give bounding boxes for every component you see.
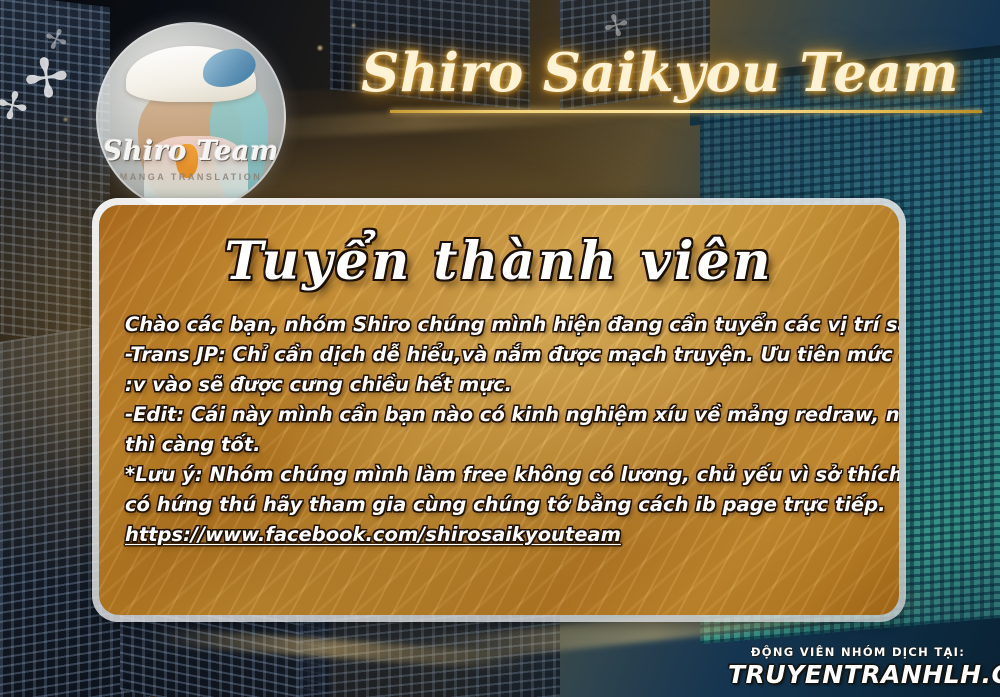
title-underline-rule [390,110,982,113]
body-line-edit-cont: thì càng tốt. [125,430,873,460]
body-line-note: *Lưu ý: Nhóm chúng mình làm free không c… [125,460,873,490]
body-line-edit: -Edit: Cái này mình cần bạn nào có kinh … [125,400,873,430]
team-logo: Shiro Team MANGA TRANSLATION [96,22,286,212]
footer-credit-label: ĐỘNG VIÊN NHÓM DỊCH TẠI: [728,645,988,659]
footer-site-name: TRUYENTRANHLH.COM [728,660,988,689]
logo-wordmark: Shiro Team [98,136,284,167]
page-title: Shiro Saikyou Team [330,42,990,104]
facebook-page-link[interactable]: https://www.facebook.com/shirosaikyoutea… [125,520,873,550]
background-light-dot-2 [352,24,355,27]
body-line-note-cont: có hứng thú hãy tham gia cùng chúng tớ b… [125,490,873,520]
recruitment-heading: Tuyển thành viên [99,231,899,292]
background-light-dot-1 [318,46,322,50]
background-light-dot-3 [64,118,67,121]
body-line-trans-jp-cont: :v vào sẽ được cưng chiều hết mực. [125,370,873,400]
logo-tagline: MANGA TRANSLATION [98,172,284,182]
recruitment-panel-inner: Tuyển thành viên Chào các bạn, nhóm Shir… [99,205,899,615]
footer-credit: ĐỘNG VIÊN NHÓM DỊCH TẠI: TRUYENTRANHLH.C… [728,645,988,689]
recruitment-panel: Tuyển thành viên Chào các bạn, nhóm Shir… [92,198,906,622]
body-line-trans-jp: -Trans JP: Chỉ cần dịch dễ hiểu,và nắm đ… [125,340,873,370]
page-root: ✢ ✢ ✢ ✢ Shiro Team MANGA TRANSLATION Shi… [0,0,1000,697]
recruitment-body: Chào các bạn, nhóm Shiro chúng mình hiện… [125,310,873,550]
body-line-greeting: Chào các bạn, nhóm Shiro chúng mình hiện… [125,310,873,340]
